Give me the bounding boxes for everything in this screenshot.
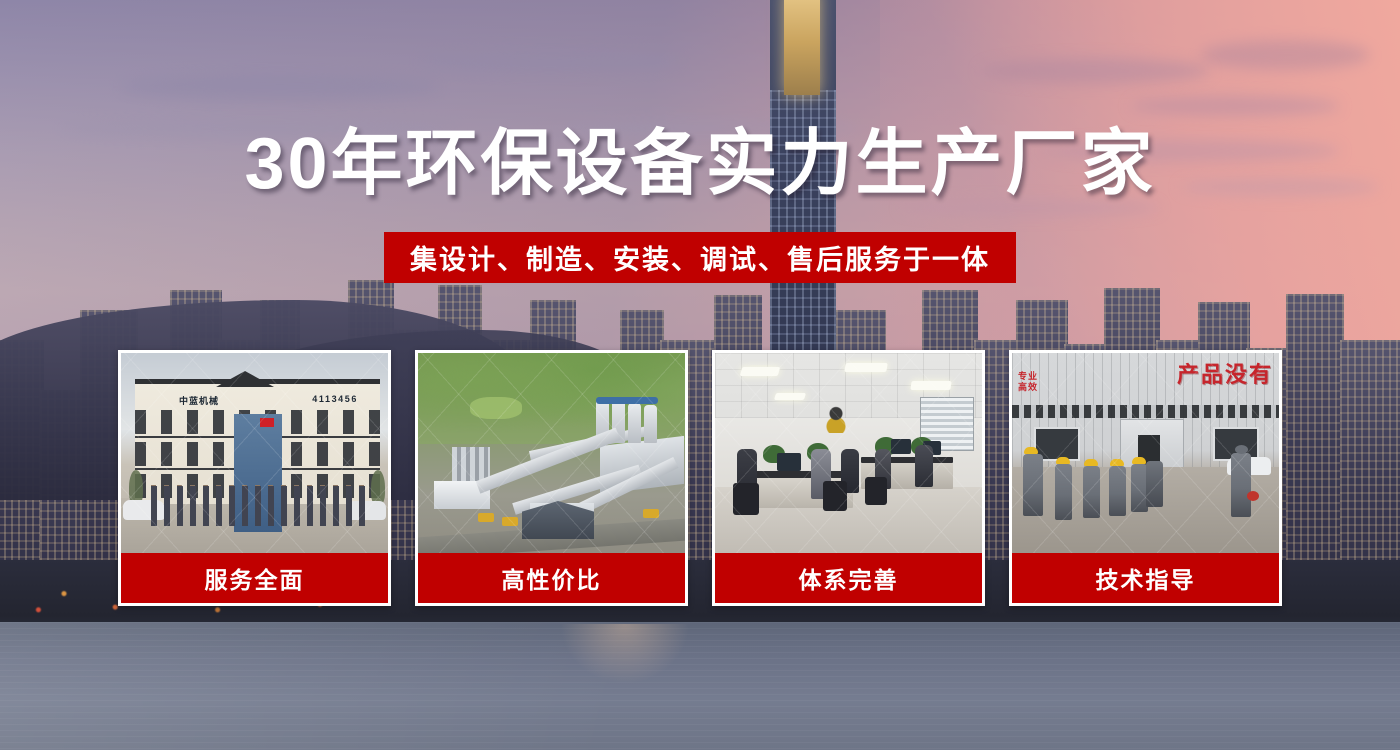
landmark-tower-lit-crown bbox=[784, 0, 820, 95]
water-light-reflection bbox=[560, 624, 690, 684]
building-phone-text: 4113456 bbox=[312, 394, 358, 404]
card-photo-factory-workers: 产品没有 专业高效 bbox=[1012, 353, 1279, 556]
subtitle-banner: 集设计、制造、安装、调试、售后服务于一体 bbox=[384, 232, 1016, 283]
water-reflection bbox=[0, 622, 1400, 750]
card-caption-banner: 服务全面 bbox=[121, 553, 388, 603]
subtitle-text: 集设计、制造、安装、调试、售后服务于一体 bbox=[410, 238, 990, 277]
feature-card-value[interactable]: 高性价比 bbox=[415, 350, 688, 606]
card-photo-company-building: 中蓝机械 4113456 bbox=[121, 353, 388, 556]
card-caption-banner: 体系完善 bbox=[715, 553, 982, 603]
card-caption-text: 体系完善 bbox=[799, 561, 899, 595]
building-sign-text: 中蓝机械 bbox=[179, 394, 219, 407]
card-caption-text: 服务全面 bbox=[205, 561, 305, 595]
card-photo-industrial-plant bbox=[418, 353, 685, 556]
card-caption-banner: 高性价比 bbox=[418, 553, 685, 603]
card-caption-text: 高性价比 bbox=[502, 561, 602, 595]
wall-logo-icon bbox=[819, 403, 853, 433]
card-caption-text: 技术指导 bbox=[1096, 561, 1196, 595]
card-photo-office-interior bbox=[715, 353, 982, 556]
hero-banner: 30年环保设备实力生产厂家 集设计、制造、安装、调试、售后服务于一体 中蓝机械 … bbox=[0, 0, 1400, 750]
factory-sign-small-text: 专业高效 bbox=[1018, 371, 1038, 394]
factory-sign-text: 产品没有 bbox=[1177, 357, 1273, 389]
page-title: 30年环保设备实力生产厂家 bbox=[0, 126, 1400, 204]
card-caption-banner: 技术指导 bbox=[1012, 553, 1279, 603]
feature-card-service[interactable]: 中蓝机械 4113456 bbox=[118, 350, 391, 606]
feature-card-system[interactable]: 体系完善 bbox=[712, 350, 985, 606]
feature-card-training[interactable]: 产品没有 专业高效 bbox=[1009, 350, 1282, 606]
feature-card-row: 中蓝机械 4113456 bbox=[118, 350, 1282, 606]
